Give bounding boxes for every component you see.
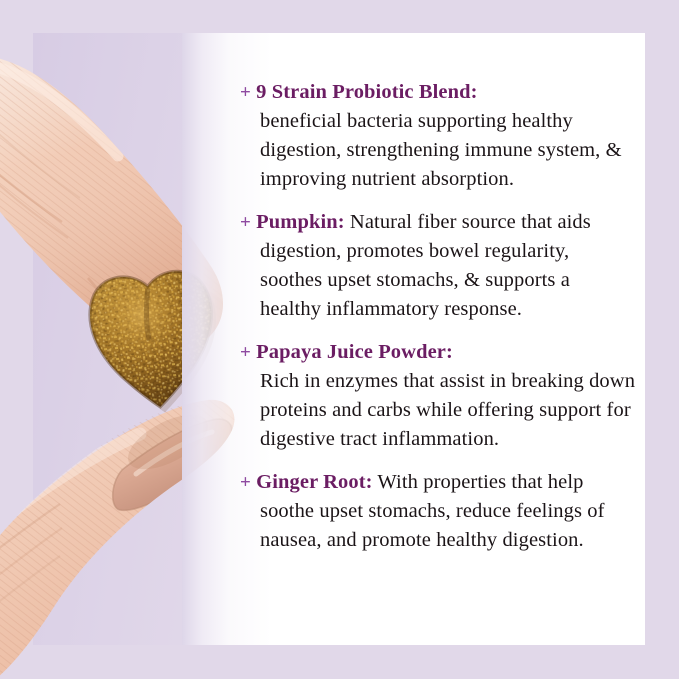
- ingredient-name: Papaya Juice Powder:: [256, 341, 453, 363]
- thumb: [0, 380, 270, 679]
- heart-shaped-dog-treat: [86, 268, 225, 419]
- ingredient-paragraph: + Pumpkin: Natural fiber source that aid…: [240, 208, 636, 324]
- ingredient-item-ginger-root: + Ginger Root: With properties that help…: [240, 468, 636, 555]
- ingredient-description: Rich in enzymes that assist in breaking …: [260, 370, 635, 450]
- ingredient-list: + 9 Strain Probiotic Blend: beneficial b…: [240, 78, 636, 555]
- ingredient-name: Pumpkin:: [256, 211, 345, 233]
- plus-bullet-icon: +: [240, 342, 251, 363]
- ingredient-paragraph: + Ginger Root: With properties that help…: [240, 468, 636, 555]
- plus-bullet-icon: +: [240, 472, 251, 493]
- ingredient-paragraph: + Papaya Juice Powder: Rich in enzymes t…: [240, 338, 636, 454]
- ingredient-description: beneficial bacteria supporting healthy d…: [260, 110, 622, 190]
- ingredient-item-pumpkin: + Pumpkin: Natural fiber source that aid…: [240, 208, 636, 324]
- ingredient-name: Ginger Root:: [256, 471, 372, 493]
- ingredient-paragraph: + 9 Strain Probiotic Blend: beneficial b…: [240, 78, 636, 194]
- ingredient-item-papaya-juice-powder: + Papaya Juice Powder: Rich in enzymes t…: [240, 338, 636, 454]
- plus-bullet-icon: +: [240, 82, 251, 103]
- ingredient-name: 9 Strain Probiotic Blend:: [256, 81, 477, 103]
- ingredient-item-probiotic-blend: + 9 Strain Probiotic Blend: beneficial b…: [240, 78, 636, 194]
- plus-bullet-icon: +: [240, 212, 251, 233]
- product-info-graphic: + 9 Strain Probiotic Blend: beneficial b…: [0, 0, 679, 679]
